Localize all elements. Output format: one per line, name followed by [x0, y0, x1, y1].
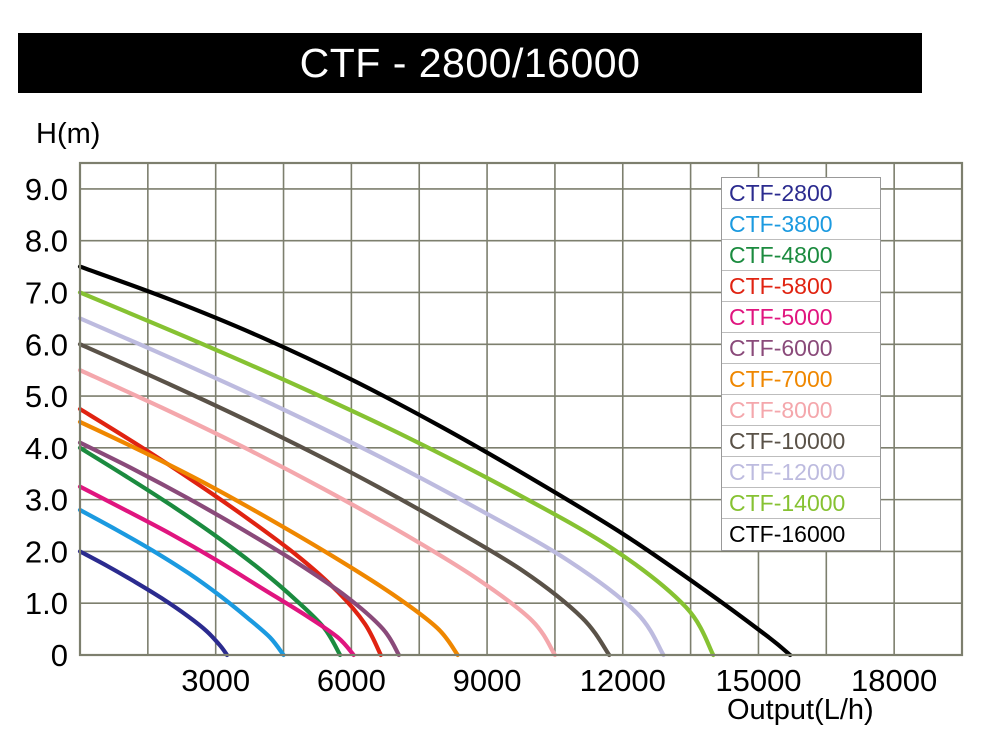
legend-item-label: CTF-4800 — [729, 242, 833, 268]
legend-item-ctf-7000[interactable]: CTF-7000 — [722, 364, 880, 395]
legend-item-ctf-5000[interactable]: CTF-5000 — [722, 302, 880, 333]
curve-lines — [80, 267, 790, 655]
legend-item-ctf-2800[interactable]: CTF-2800 — [722, 178, 880, 209]
legend-item-label: CTF-3800 — [729, 211, 833, 237]
legend-item-label: CTF-6000 — [729, 335, 833, 361]
x-tick-label: 6000 — [317, 663, 386, 698]
legend-item-label: CTF-2800 — [729, 180, 833, 206]
legend-item-label: CTF-16000 — [729, 521, 845, 547]
legend-item-label: CTF-14000 — [729, 490, 845, 516]
y-tick-label: 8.0 — [25, 224, 68, 259]
curve-ctf-16000 — [80, 267, 790, 655]
x-tick-label: 12000 — [580, 663, 666, 698]
y-tick-label: 1.0 — [25, 586, 68, 621]
legend-item-label: CTF-5000 — [729, 304, 833, 330]
legend-item-ctf-4800[interactable]: CTF-4800 — [722, 240, 880, 271]
curve-ctf-7000 — [80, 422, 458, 655]
x-tick-label: 3000 — [181, 663, 250, 698]
y-tick-label: 5.0 — [25, 379, 68, 414]
y-tick-label: 2.0 — [25, 534, 68, 569]
legend-item-label: CTF-5800 — [729, 273, 833, 299]
legend-item-label: CTF-10000 — [729, 428, 845, 454]
legend: CTF-2800CTF-3800CTF-4800CTF-5800CTF-5000… — [721, 177, 881, 551]
legend-item-ctf-12000[interactable]: CTF-12000 — [722, 457, 880, 488]
legend-item-label: CTF-12000 — [729, 459, 845, 485]
legend-item-ctf-6000[interactable]: CTF-6000 — [722, 333, 880, 364]
y-tick-label: 0 — [51, 638, 68, 673]
legend-item-ctf-10000[interactable]: CTF-10000 — [722, 426, 880, 457]
legend-item-ctf-3800[interactable]: CTF-3800 — [722, 209, 880, 240]
x-tick-labels: 300060009000120001500018000 — [181, 663, 937, 698]
y-tick-label: 7.0 — [25, 275, 68, 310]
y-tick-label: 9.0 — [25, 172, 68, 207]
x-tick-label: 9000 — [453, 663, 522, 698]
y-tick-labels: 01.02.03.04.05.06.07.08.09.0 — [25, 172, 68, 673]
curve-ctf-14000 — [80, 292, 713, 655]
legend-item-label: CTF-7000 — [729, 366, 833, 392]
legend-item-ctf-5800[interactable]: CTF-5800 — [722, 271, 880, 302]
x-tick-label: 18000 — [851, 663, 937, 698]
legend-item-ctf-8000[interactable]: CTF-8000 — [722, 395, 880, 426]
legend-item-ctf-14000[interactable]: CTF-14000 — [722, 488, 880, 519]
y-tick-label: 3.0 — [25, 483, 68, 518]
curve-ctf-5800 — [80, 409, 381, 655]
y-tick-label: 6.0 — [25, 327, 68, 362]
legend-item-ctf-16000[interactable]: CTF-16000 — [722, 519, 880, 550]
y-tick-label: 4.0 — [25, 431, 68, 466]
legend-item-label: CTF-8000 — [729, 397, 833, 423]
x-tick-label: 15000 — [715, 663, 801, 698]
